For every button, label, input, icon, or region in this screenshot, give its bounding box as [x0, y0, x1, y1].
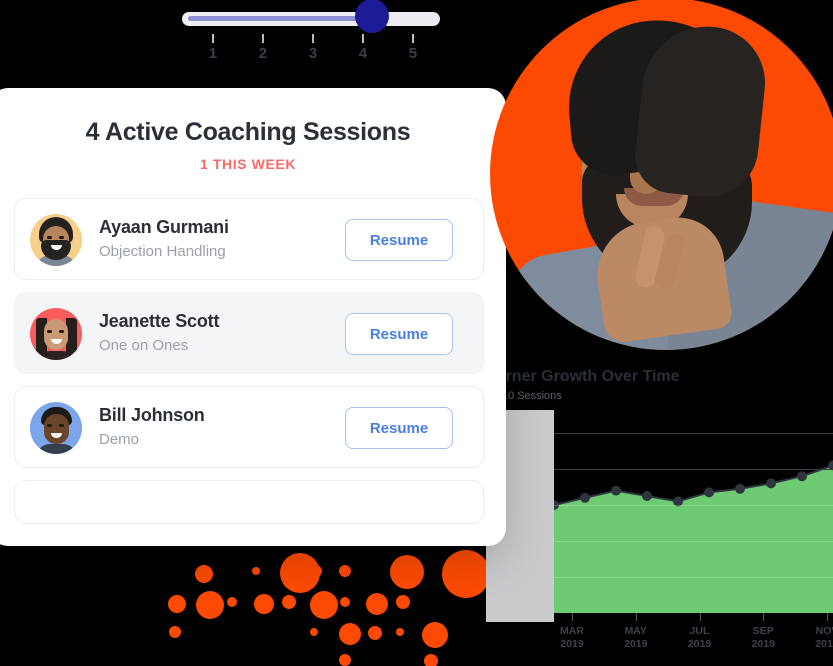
- slider-tick-row: 12345: [182, 34, 440, 66]
- decorative-dot: [227, 597, 237, 607]
- slider-tick-mark: [312, 34, 314, 43]
- status-badge: 1 THIS WEEK: [0, 156, 506, 172]
- avatar-part: [44, 414, 69, 444]
- chart-x-tick-label: NOV2019: [799, 625, 833, 651]
- chart-data-point[interactable]: [642, 491, 652, 501]
- chart-gridline: [554, 469, 833, 470]
- chart-x-tick-mark: [763, 613, 764, 621]
- decorative-dot: [339, 623, 361, 645]
- avatar-part: [47, 330, 52, 333]
- decorative-dot: [340, 597, 350, 607]
- chart-gridline: [554, 541, 833, 542]
- slider-tick-mark: [362, 34, 364, 43]
- slider-tick-label-4[interactable]: 4: [352, 45, 374, 62]
- resume-button[interactable]: Resume: [345, 313, 453, 355]
- session-row[interactable]: Bill JohnsonDemoResume: [14, 386, 484, 468]
- decorative-dot: [195, 565, 213, 583]
- chart-area-fill: [554, 465, 833, 613]
- decorative-dot: [366, 593, 388, 615]
- chart-x-tick-mark: [827, 613, 828, 621]
- resume-button[interactable]: Resume: [345, 219, 453, 261]
- chart-area-series: [554, 415, 833, 613]
- session-topic: Objection Handling: [99, 243, 226, 260]
- avatar: [30, 308, 82, 360]
- page-title: 4 Active Coaching Sessions: [0, 118, 506, 147]
- chart-x-tick-label: SEP2019: [735, 625, 791, 651]
- decorative-dot: [252, 567, 260, 575]
- chart-gridline: [554, 433, 833, 434]
- decorative-dot: [168, 595, 186, 613]
- avatar-part: [47, 236, 52, 239]
- portrait-avatar: [490, 0, 833, 350]
- resume-button[interactable]: Resume: [345, 407, 453, 449]
- avatar-part: [59, 236, 64, 239]
- decorative-dot-pattern: [150, 550, 495, 666]
- step-slider[interactable]: 12345: [182, 6, 440, 68]
- slider-thumb[interactable]: [355, 0, 389, 33]
- chart-x-axis: MAR2019MAY2019JUL2019SEP2019NOV2019: [554, 613, 833, 665]
- decorative-dot: [310, 591, 338, 619]
- session-row[interactable]: Ayaan GurmaniObjection HandlingResume: [14, 198, 484, 280]
- decorative-dot: [390, 555, 424, 589]
- session-row[interactable]: Jeanette ScottOne on OnesResume: [14, 292, 484, 374]
- session-learner-name: Bill Johnson: [99, 405, 205, 426]
- chart-plot-area: [554, 415, 833, 613]
- avatar-part: [36, 444, 77, 454]
- decorative-dot: [396, 628, 404, 636]
- avatar: [30, 402, 82, 454]
- chart-gridline: [554, 505, 833, 506]
- avatar-part: [59, 330, 64, 333]
- avatar-part: [59, 424, 64, 427]
- chart-title: Learner Growth Over Time: [478, 368, 680, 386]
- session-topic: One on Ones: [99, 337, 188, 354]
- chart-x-tick-mark: [572, 613, 573, 621]
- chart-data-point[interactable]: [797, 471, 807, 481]
- decorative-dot: [196, 591, 224, 619]
- session-learner-name: Ayaan Gurmani: [99, 217, 229, 238]
- session-topic: Demo: [99, 431, 139, 448]
- chart-data-point[interactable]: [611, 486, 621, 496]
- avatar-part: [44, 319, 68, 350]
- chart-data-point[interactable]: [704, 487, 714, 497]
- slider-fill: [188, 16, 363, 21]
- screenshot-stage: 12345 Learner Growth Over Time Last 10 S…: [0, 0, 833, 666]
- chart-data-point[interactable]: [766, 478, 776, 488]
- decorative-dot: [424, 654, 438, 666]
- chart-x-tick-label: JUL2019: [672, 625, 728, 651]
- chart-x-tick-label: MAR2019: [544, 625, 600, 651]
- session-row-partial[interactable]: [14, 480, 484, 524]
- chart-gridline: [554, 577, 833, 578]
- decorative-dot: [368, 626, 382, 640]
- decorative-dot: [422, 622, 448, 648]
- decorative-dot: [282, 595, 296, 609]
- avatar: [30, 214, 82, 266]
- decorative-dot: [254, 594, 274, 614]
- active-sessions-card: 4 Active Coaching Sessions 1 THIS WEEK A…: [0, 88, 506, 546]
- session-learner-name: Jeanette Scott: [99, 311, 219, 332]
- decorative-dot: [310, 628, 318, 636]
- decorative-dot: [169, 626, 181, 638]
- chart-x-tick-mark: [700, 613, 701, 621]
- slider-tick-mark: [212, 34, 214, 43]
- slider-tick-label-5[interactable]: 5: [402, 45, 424, 62]
- decorative-dot: [396, 595, 410, 609]
- slider-tick-label-1[interactable]: 1: [202, 45, 224, 62]
- chart-data-point[interactable]: [735, 484, 745, 494]
- avatar-part: [47, 424, 52, 427]
- slider-tick-mark: [412, 34, 414, 43]
- slider-tick-mark: [262, 34, 264, 43]
- chart-data-point[interactable]: [580, 493, 590, 503]
- decorative-dot: [339, 565, 351, 577]
- slider-tick-label-3[interactable]: 3: [302, 45, 324, 62]
- session-list: Ayaan GurmaniObjection HandlingResumeJea…: [14, 198, 484, 536]
- slider-tick-label-2[interactable]: 2: [252, 45, 274, 62]
- chart-x-tick-mark: [636, 613, 637, 621]
- decorative-dot: [339, 654, 351, 666]
- decorative-dot: [310, 565, 322, 577]
- chart-x-tick-label: MAY2019: [608, 625, 664, 651]
